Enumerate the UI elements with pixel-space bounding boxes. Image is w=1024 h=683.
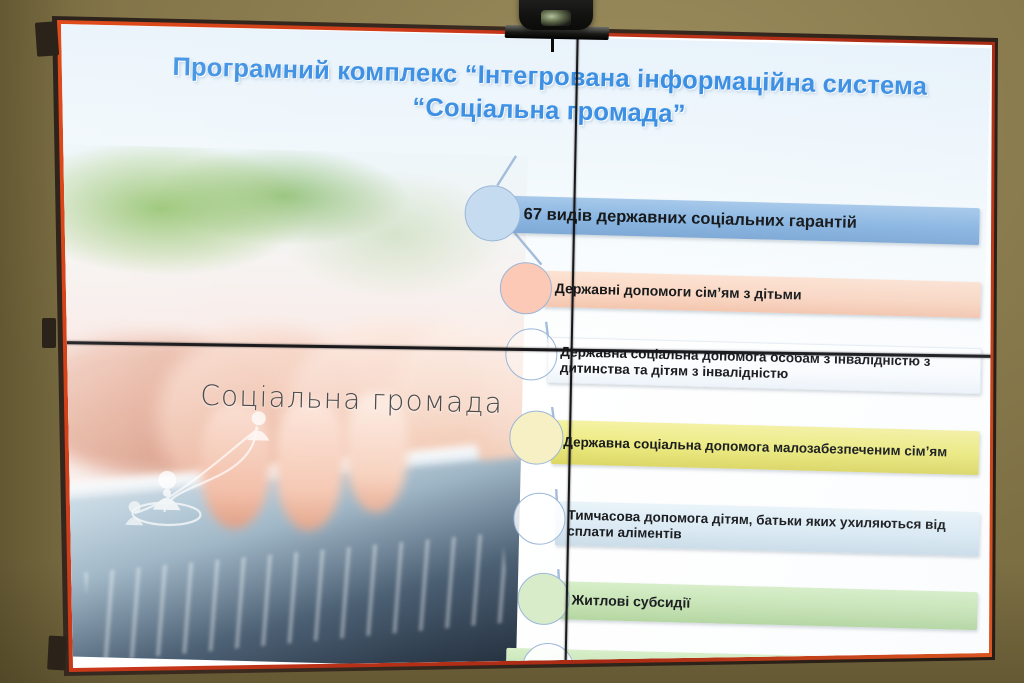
list-item[interactable]: Житлові субсидії [559,581,978,630]
list-item-label: Тимчасова допомога дітям, батьки яких ух… [555,507,980,551]
list-item-label: 67 видів державних соціальних гарантій [511,204,865,233]
slide-title-line1: Програмний комплекс “Інтегрована інформа… [172,53,927,101]
list-item[interactable]: 67 видів державних соціальних гарантій [511,196,980,245]
mount-bracket-bottom-left [47,636,67,671]
node-marker [499,262,552,315]
camera-lens-icon [541,10,571,26]
list-item[interactable]: Державні допомоги сім’ям з дітьми [542,271,981,318]
list-item[interactable]: Державна соціальна допомога особам з інв… [547,337,982,394]
list-item-label: Державна соціальна допомога малозабезпеч… [551,434,955,461]
list-item[interactable]: Державна соціальна допомога малозабезпеч… [551,420,980,475]
slide-title-line2: “Соціальна громада” [412,93,686,128]
video-wall-display: Соціальна громада Програмний комплекс “І… [0,0,1024,683]
list-item[interactable]: Тимчасова допомога дітям, батьки яких ух… [555,501,980,556]
background-photo: Соціальна громада [46,144,528,668]
mount-bracket-left-mid [42,318,56,348]
list-item-label: Державні допомоги сім’ям з дітьми [543,280,810,304]
slide-title: Програмний комплекс “Інтегрована інформа… [119,50,980,140]
mount-bracket-top-left [35,21,59,56]
camera-stem [551,36,554,52]
list-item-label: Житлові субсидії [559,592,698,613]
display-panel: Соціальна громада Програмний комплекс “І… [0,0,1024,683]
